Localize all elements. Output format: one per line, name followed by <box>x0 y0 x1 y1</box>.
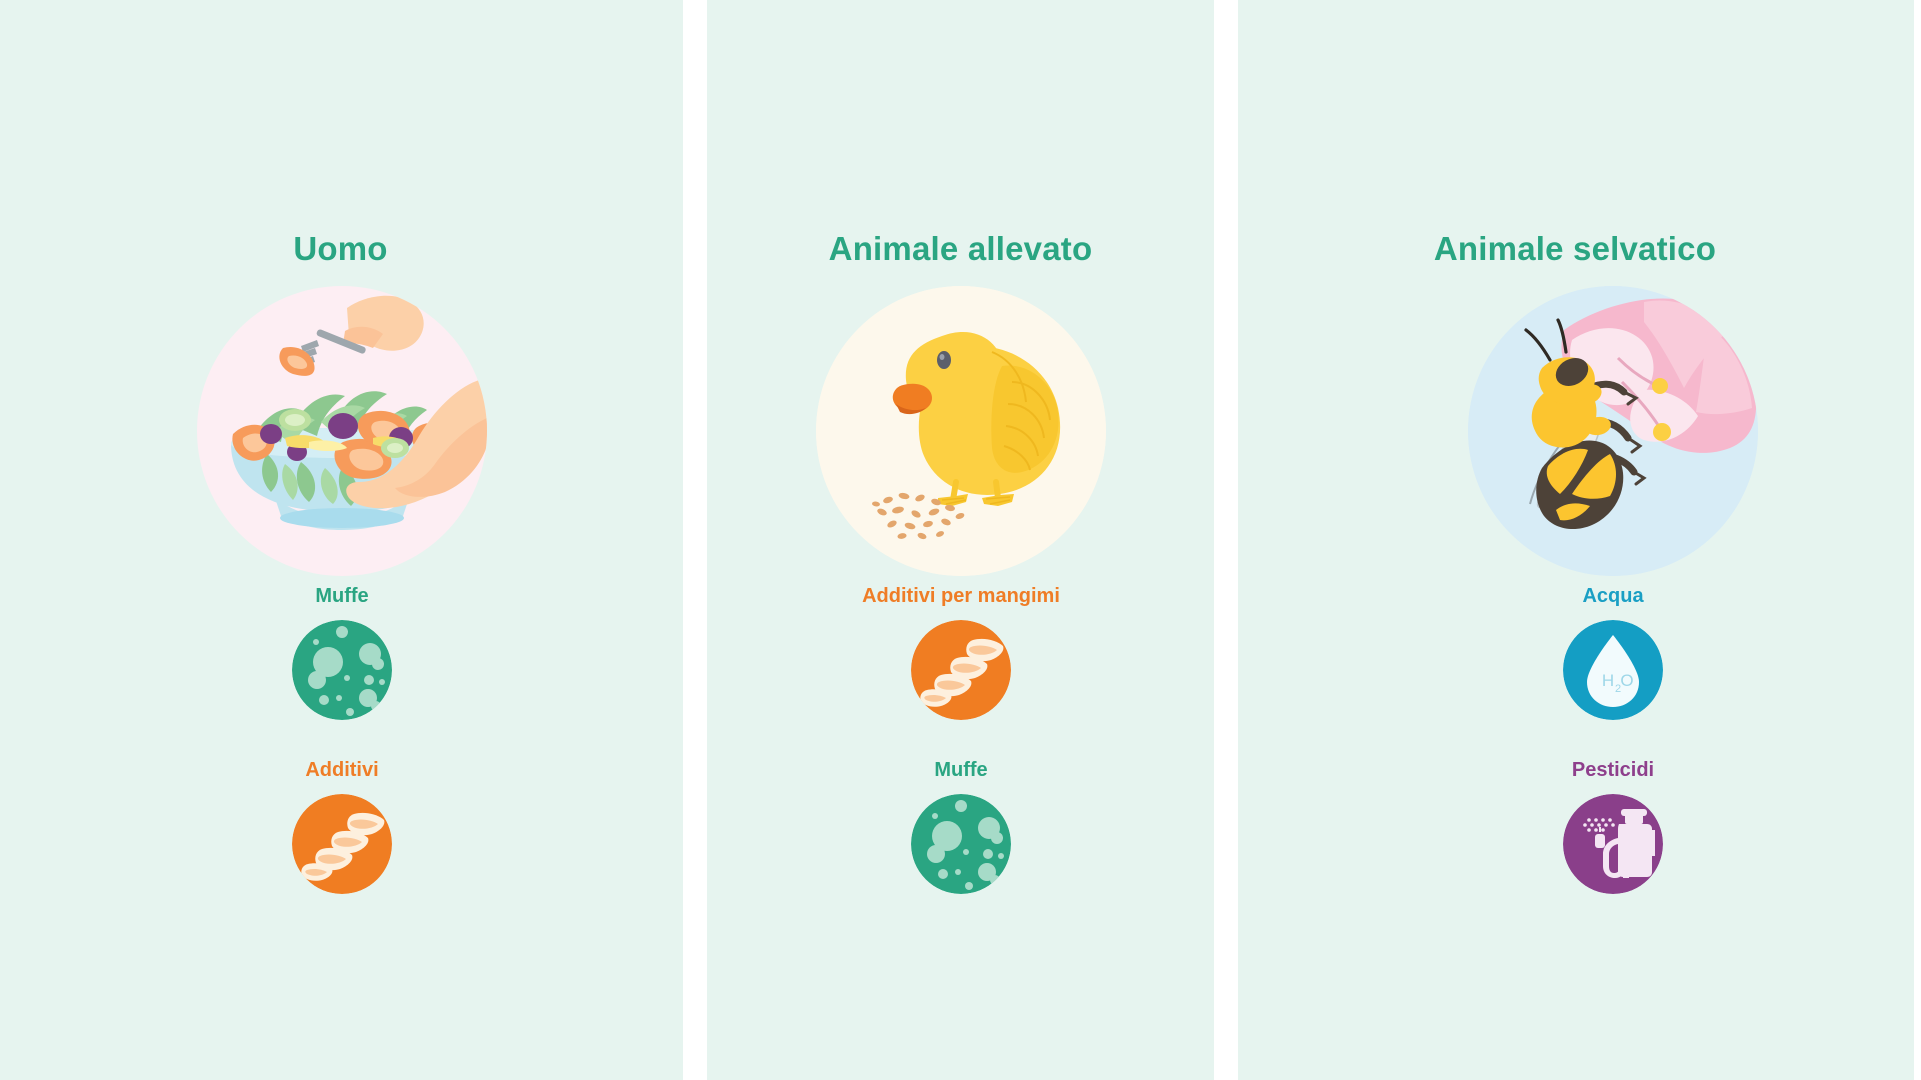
column-heading-animale-allevato: Animale allevato <box>707 232 1214 265</box>
column-uomo: Uomo <box>0 0 683 1080</box>
hazard-label-additivi-per-mangimi: Additivi per mangimi <box>806 586 1116 606</box>
column-heading-animale-selvatico: Animale selvatico <box>1237 232 1913 265</box>
pesticide-sprayer-icon <box>1563 794 1663 894</box>
hazard-item-pesticidi[interactable]: Pesticidi <box>1493 760 1733 894</box>
bee-flower-illustration <box>1468 286 1758 576</box>
column-animale-selvatico: Animale selvatico <box>1238 0 1914 1080</box>
hazard-item-muffe[interactable]: Muffe <box>222 586 462 720</box>
hazard-label-acqua: Acqua <box>1493 586 1733 606</box>
svg-text:H: H <box>1602 671 1614 690</box>
water-drop-icon: H 2 O <box>1563 620 1663 720</box>
hazard-label-muffe: Muffe <box>222 586 462 606</box>
hazard-item-additivi-per-mangimi[interactable]: Additivi per mangimi <box>806 586 1116 720</box>
bread-additives-icon <box>911 620 1011 720</box>
hazard-item-acqua[interactable]: Acqua H 2 O <box>1493 586 1733 720</box>
hazard-label-pesticidi: Pesticidi <box>1493 760 1733 780</box>
infographic-board: Uomo <box>0 0 1921 1080</box>
hazard-item-additivi[interactable]: Additivi <box>222 760 462 894</box>
hazard-label-additivi: Additivi <box>222 760 462 780</box>
chick-feed-illustration <box>816 286 1106 576</box>
mold-icon <box>292 620 392 720</box>
panel-gap-2 <box>1214 0 1238 1080</box>
svg-text:O: O <box>1620 671 1633 690</box>
mold-icon <box>911 794 1011 894</box>
salad-bowl-hands-illustration <box>197 286 487 576</box>
panel-gap-1 <box>683 0 707 1080</box>
hazard-item-muffe[interactable]: Muffe <box>841 760 1081 894</box>
bread-additives-icon <box>292 794 392 894</box>
hazard-label-muffe: Muffe <box>841 760 1081 780</box>
column-animale-allevato: Animale allevato <box>707 0 1214 1080</box>
column-heading-uomo: Uomo <box>0 232 682 265</box>
